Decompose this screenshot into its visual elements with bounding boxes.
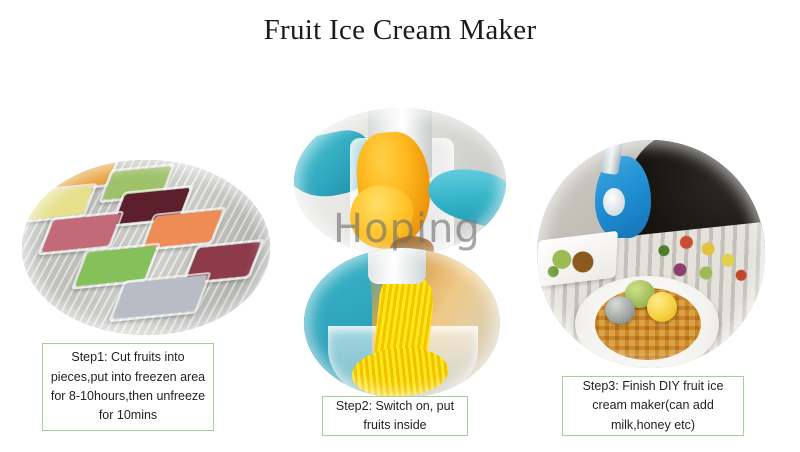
fruit-tray-fill xyxy=(41,214,120,253)
caption-step-1: Step1: Cut fruits into pieces,put into f… xyxy=(42,343,214,431)
infographic-page: Fruit Ice Cream Maker xyxy=(0,0,800,452)
caption-step-2-text: Step2: Switch on, put fruits inside xyxy=(329,397,461,436)
photo-finished-dessert xyxy=(537,140,765,368)
brand-watermark: Hoping xyxy=(333,206,481,252)
machine-nozzle xyxy=(368,248,426,284)
page-title: Fruit Ice Cream Maker xyxy=(0,14,800,47)
caption-step-2: Step2: Switch on, put fruits inside xyxy=(322,396,468,436)
device-button xyxy=(603,188,625,216)
photo-ice-cream-extruding xyxy=(304,248,500,398)
fruit-tray-fill xyxy=(112,275,207,319)
ice-cream-scoop-grey xyxy=(605,296,635,324)
caption-step-1-text: Step1: Cut fruits into pieces,put into f… xyxy=(49,348,207,426)
ice-cream-scoop-yellow xyxy=(647,292,677,322)
caption-step-3: Step3: Finish DIY fruit ice cream maker(… xyxy=(562,376,744,436)
caption-step-3-text: Step3: Finish DIY fruit ice cream maker(… xyxy=(569,377,737,435)
photo-frozen-fruit-trays xyxy=(22,160,270,335)
